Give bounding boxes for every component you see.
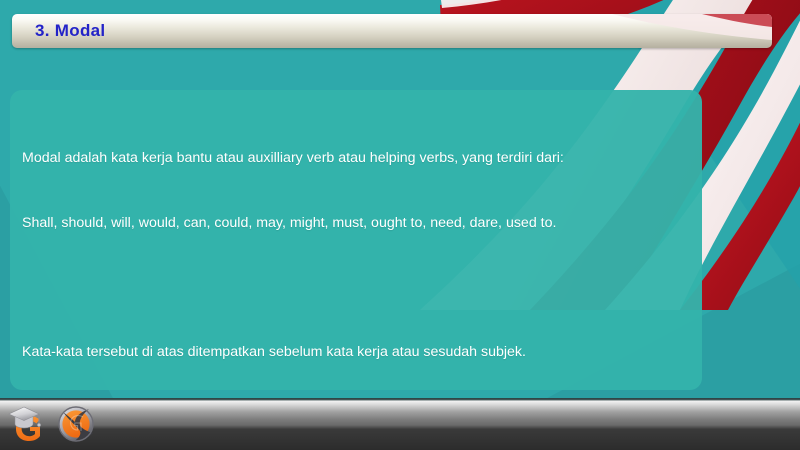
- page-title: 3. Modal: [35, 21, 105, 41]
- graduation-cap-g-logo-icon[interactable]: [6, 402, 50, 446]
- body-line-blank: [22, 277, 722, 299]
- body-line: Kata-kata tersebut di atas ditempatkan s…: [22, 342, 722, 364]
- bottom-toolbar: [0, 398, 800, 450]
- body-line: Shall, should, will, would, can, could, …: [22, 213, 722, 235]
- body-line: Modal adalah kata kerja bantu atau auxil…: [22, 148, 722, 170]
- slide-title-bar: 3. Modal: [12, 14, 772, 48]
- presentation-slide: 3. Modal Modal adalah kata kerja bantu a…: [0, 0, 800, 450]
- circle-g-logo-icon[interactable]: [54, 402, 98, 446]
